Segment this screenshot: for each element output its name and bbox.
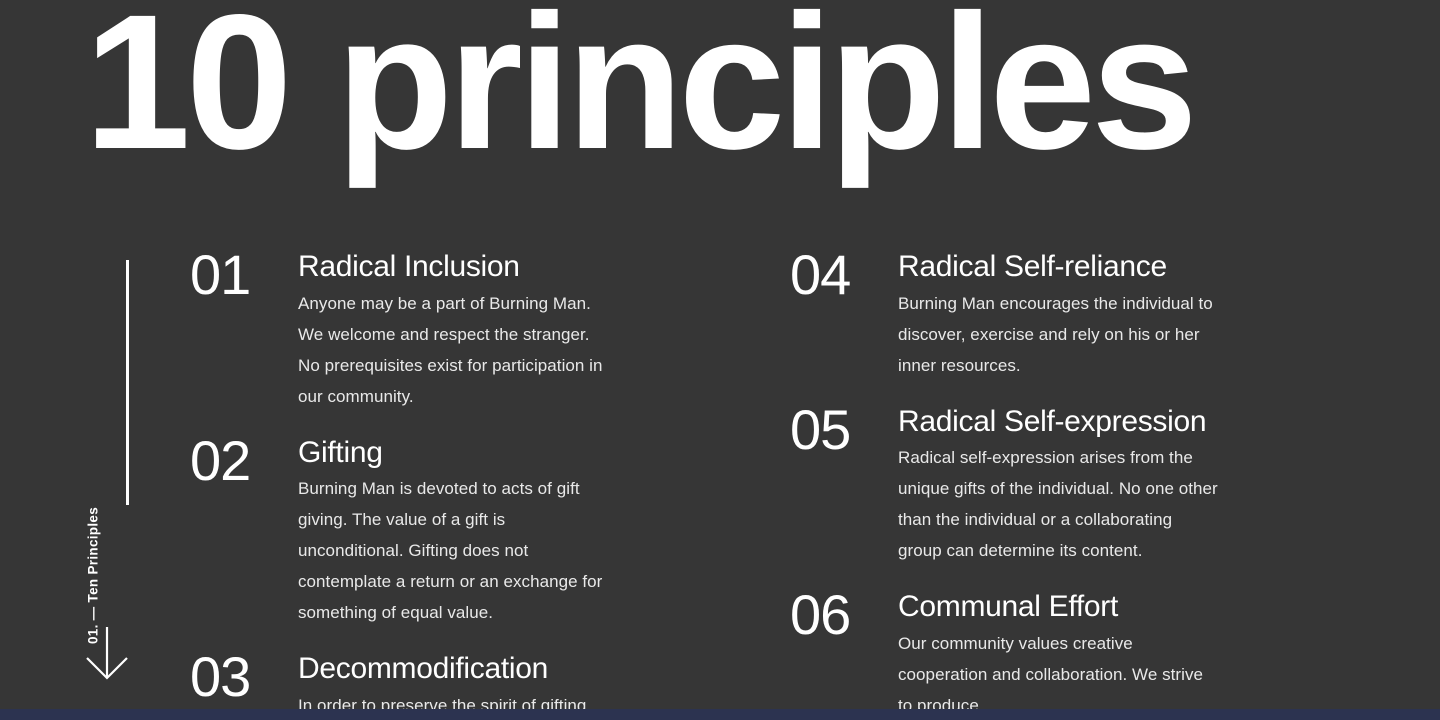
principle-title: Gifting: [298, 436, 610, 470]
page-title: 10 principles: [84, 0, 1193, 178]
principle-title: Radical Self-reliance: [898, 250, 1220, 284]
principle-number: 02: [190, 434, 298, 487]
principles-grid: 01 Radical Inclusion Anyone may be a par…: [0, 250, 1440, 720]
principle-title: Decommodification: [298, 652, 610, 686]
principles-column-left: 01 Radical Inclusion Anyone may be a par…: [0, 250, 610, 720]
principle-number: 04: [790, 248, 898, 301]
principle-description: Our community values creative cooperatio…: [898, 628, 1220, 720]
principle-number: 03: [190, 650, 298, 703]
principle-description: Radical self-expression arises from the …: [898, 442, 1220, 566]
principle-description: Anyone may be a part of Burning Man. We …: [298, 288, 610, 412]
principle-title: Radical Self-expression: [898, 405, 1220, 439]
principle-item[interactable]: 04 Radical Self-reliance Burning Man enc…: [790, 250, 1220, 381]
slide-root: 10 principles 01. — Ten Principles 01 Ra…: [0, 0, 1440, 720]
principle-item[interactable]: 05 Radical Self-expression Radical self-…: [790, 405, 1220, 567]
principle-description: Burning Man is devoted to acts of gift g…: [298, 473, 610, 628]
principle-title: Radical Inclusion: [298, 250, 610, 284]
principle-title: Communal Effort: [898, 590, 1220, 624]
bottom-accent-bar: [0, 709, 1440, 720]
principle-item[interactable]: 02 Gifting Burning Man is devoted to act…: [190, 436, 610, 629]
principles-column-right: 04 Radical Self-reliance Burning Man enc…: [610, 250, 1220, 720]
principle-item[interactable]: 01 Radical Inclusion Anyone may be a par…: [190, 250, 610, 412]
principle-number: 05: [790, 403, 898, 456]
principle-number: 06: [790, 588, 898, 641]
principle-item[interactable]: 06 Communal Effort Our community values …: [790, 590, 1220, 720]
principle-number: 01: [190, 248, 298, 301]
principle-description: Burning Man encourages the individual to…: [898, 288, 1220, 381]
